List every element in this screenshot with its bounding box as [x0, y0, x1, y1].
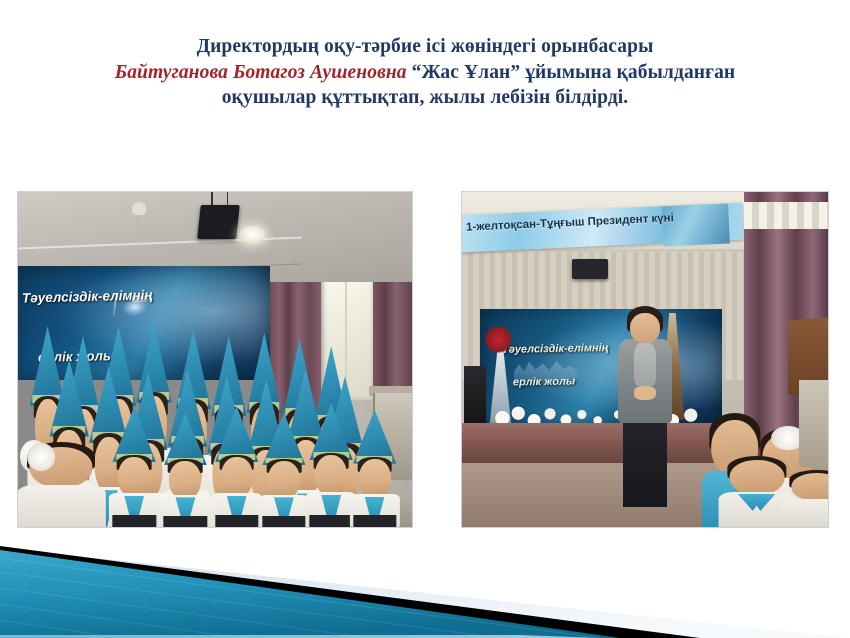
- slide-title: Директордың оқу-тәрбие ісі жөніндегі оры…: [0, 34, 850, 111]
- hair-bow-icon: [27, 443, 55, 470]
- blue-cap-icon: [310, 403, 353, 460]
- blue-cap-icon: [113, 406, 156, 461]
- face: [221, 457, 253, 498]
- decoration-blue-triangle: [0, 550, 620, 638]
- child-figure: [215, 406, 258, 527]
- dark-trousers: [262, 516, 305, 527]
- curtain-valance: [744, 202, 828, 229]
- right-banner-text-line-2: ерлік жолы: [513, 376, 575, 389]
- title-line-3: оқушылар құттықтап, жылы лебізін білдірд…: [0, 85, 850, 111]
- decoration-blue-texture: [0, 558, 600, 638]
- photo-left-content: Тәуелсіздік-елімнің ерлік жолы: [18, 192, 412, 527]
- dark-trousers: [215, 515, 258, 527]
- face: [118, 457, 150, 498]
- loudspeaker: [464, 366, 486, 423]
- slide-bottom-decoration: [0, 538, 850, 638]
- decoration-svg: [0, 538, 850, 638]
- ceiling-projector-icon: [197, 205, 240, 239]
- title-line-2-rest: “Жас Ұлан” ұйымына қабылданған: [412, 62, 736, 83]
- title-line-2: Байтуганова Ботагоз Аушеновна “Жас Ұлан”…: [0, 60, 850, 86]
- photo-left[interactable]: Тәуелсіздік-елімнің ерлік жолы: [18, 192, 412, 527]
- white-shirt: [18, 485, 105, 527]
- photo-right-content: 1-желтоқсан-Тұңғыш Президент күні Тәуелс…: [462, 192, 828, 527]
- face: [315, 455, 347, 497]
- dark-trousers: [353, 515, 396, 527]
- face: [169, 461, 201, 500]
- smoke-detector-icon: [132, 202, 146, 215]
- teacher-name: Байтуганова Ботагоз Аушеновна: [115, 62, 407, 83]
- child-figure: [113, 406, 156, 527]
- foreground-child: [729, 460, 784, 527]
- dark-trousers: [310, 515, 353, 527]
- dark-trousers: [164, 516, 207, 527]
- ceiling-projector-icon: [572, 259, 609, 279]
- lectern-stand: [799, 380, 828, 467]
- child-figure: [164, 413, 207, 527]
- blue-cap-icon: [50, 360, 89, 437]
- blue-cap-icon: [262, 413, 305, 465]
- blue-cap-icon: [215, 406, 258, 461]
- stage-floor: [462, 423, 747, 463]
- teacher-blouse: [634, 343, 656, 387]
- foreground-child: [30, 447, 93, 527]
- teacher-hands: [634, 386, 656, 399]
- title-line-1: Директордың оқу-тәрбие ісі жөніндегі оры…: [0, 34, 850, 60]
- banner-artwork: [662, 204, 730, 247]
- teacher-face: [630, 313, 659, 343]
- right-banner-text-line-1: Тәуелсіздік-елімнің: [502, 342, 608, 356]
- photo-right[interactable]: 1-желтоқсан-Тұңғыш Президент күні Тәуелс…: [462, 192, 828, 527]
- ceiling-lamp-icon: [239, 226, 267, 244]
- decoration-pale-wedge: [0, 548, 850, 638]
- dark-trousers: [113, 515, 156, 527]
- presentation-slide: Директордың оқу-тәрбие ісі жөніндегі оры…: [0, 0, 850, 638]
- child-figure: [262, 413, 305, 527]
- foreground-child: [791, 473, 828, 527]
- face: [729, 460, 784, 495]
- face: [359, 459, 391, 499]
- face: [268, 461, 300, 500]
- blue-cap-icon: [164, 413, 207, 465]
- face: [791, 473, 828, 501]
- blue-cap-icon: [353, 410, 396, 464]
- red-flowers: [484, 326, 513, 353]
- teacher-skirt: [623, 420, 667, 507]
- child-figure: [353, 410, 396, 527]
- white-shirt: [781, 499, 828, 527]
- child-figure: [310, 403, 353, 527]
- decoration-black-stripe: [0, 546, 700, 638]
